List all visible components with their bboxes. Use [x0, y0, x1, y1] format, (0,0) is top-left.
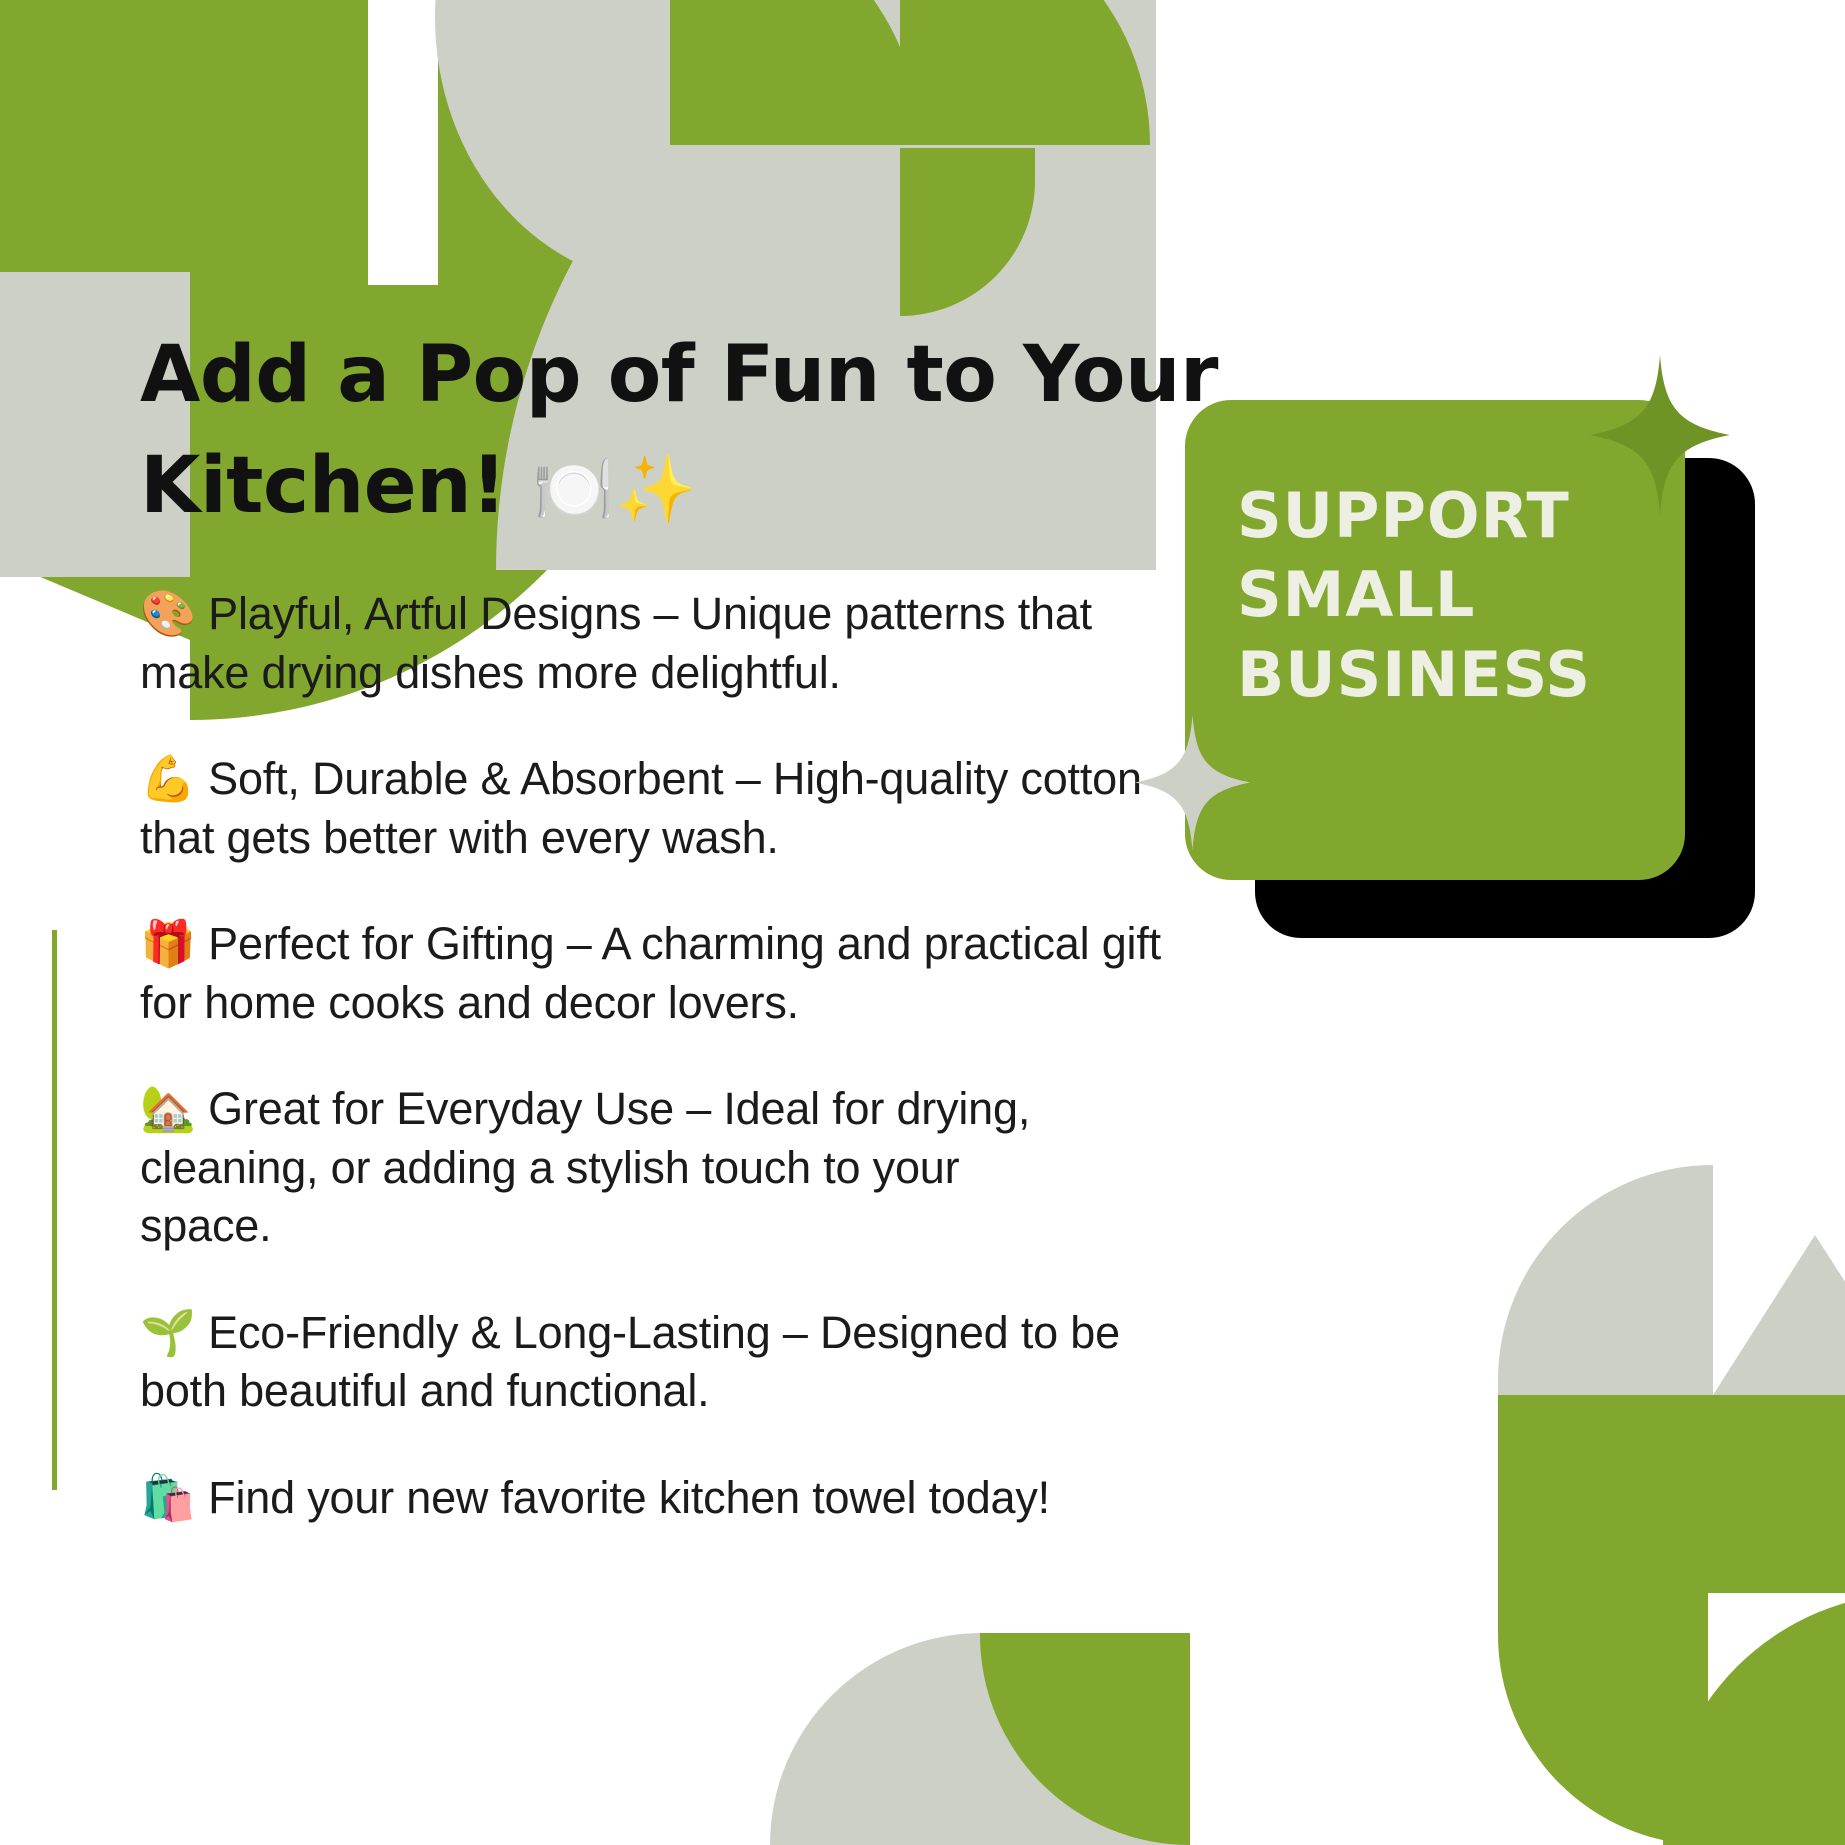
content-layer: Add a Pop of Fun to Your Kitchen! 🍽️✨ 🎨 … [0, 0, 1845, 1845]
house-with-garden-emoji: 🏡 [140, 1083, 196, 1134]
poster-canvas: Add a Pop of Fun to Your Kitchen! 🍽️✨ 🎨 … [0, 0, 1845, 1845]
wrapped-gift-emoji: 🎁 [140, 918, 196, 969]
badge-line-2: SMALL [1237, 555, 1685, 634]
list-item-text: Find your new favorite kitchen towel tod… [208, 1472, 1050, 1523]
seedling-emoji: 🌱 [140, 1307, 196, 1358]
list-item: 💪 Soft, Durable & Absorbent – High-quali… [140, 750, 1162, 867]
list-item-text: Soft, Durable & Absorbent – High-quality… [140, 753, 1142, 863]
feature-list: 🎨 Playful, Artful Designs – Unique patte… [140, 540, 1162, 1527]
list-item: 🏡 Great for Everyday Use – Ideal for dry… [140, 1080, 1080, 1256]
palette-emoji: 🎨 [140, 588, 196, 639]
headline-emoji: 🍽️✨ [533, 451, 697, 528]
headline-line-2: Kitchen! [140, 441, 533, 531]
flexed-biceps-emoji: 💪 [140, 753, 196, 804]
list-item-text: Eco-Friendly & Long-Lasting – Designed t… [140, 1307, 1120, 1417]
list-item-text: Playful, Artful Designs – Unique pattern… [140, 588, 1092, 698]
list-item: 🌱 Eco-Friendly & Long-Lasting – Designed… [140, 1304, 1162, 1421]
support-small-business-badge: SUPPORT SMALL BUSINESS [1185, 400, 1785, 960]
list-item-text: Perfect for Gifting – A charming and pra… [140, 918, 1161, 1028]
sparkle-icon [1590, 355, 1730, 515]
list-item-text: Great for Everyday Use – Ideal for dryin… [140, 1083, 1030, 1251]
list-item: 🛍️ Find your new favorite kitchen towel … [140, 1469, 1162, 1528]
headline-line-1: Add a Pop of Fun to Your [140, 330, 1218, 420]
shopping-bags-emoji: 🛍️ [140, 1472, 196, 1523]
badge-line-3: BUSINESS [1237, 635, 1685, 714]
sparkle-icon [1135, 715, 1250, 850]
list-item: 🎨 Playful, Artful Designs – Unique patte… [140, 585, 1162, 702]
list-item: 🎁 Perfect for Gifting – A charming and p… [140, 915, 1162, 1032]
